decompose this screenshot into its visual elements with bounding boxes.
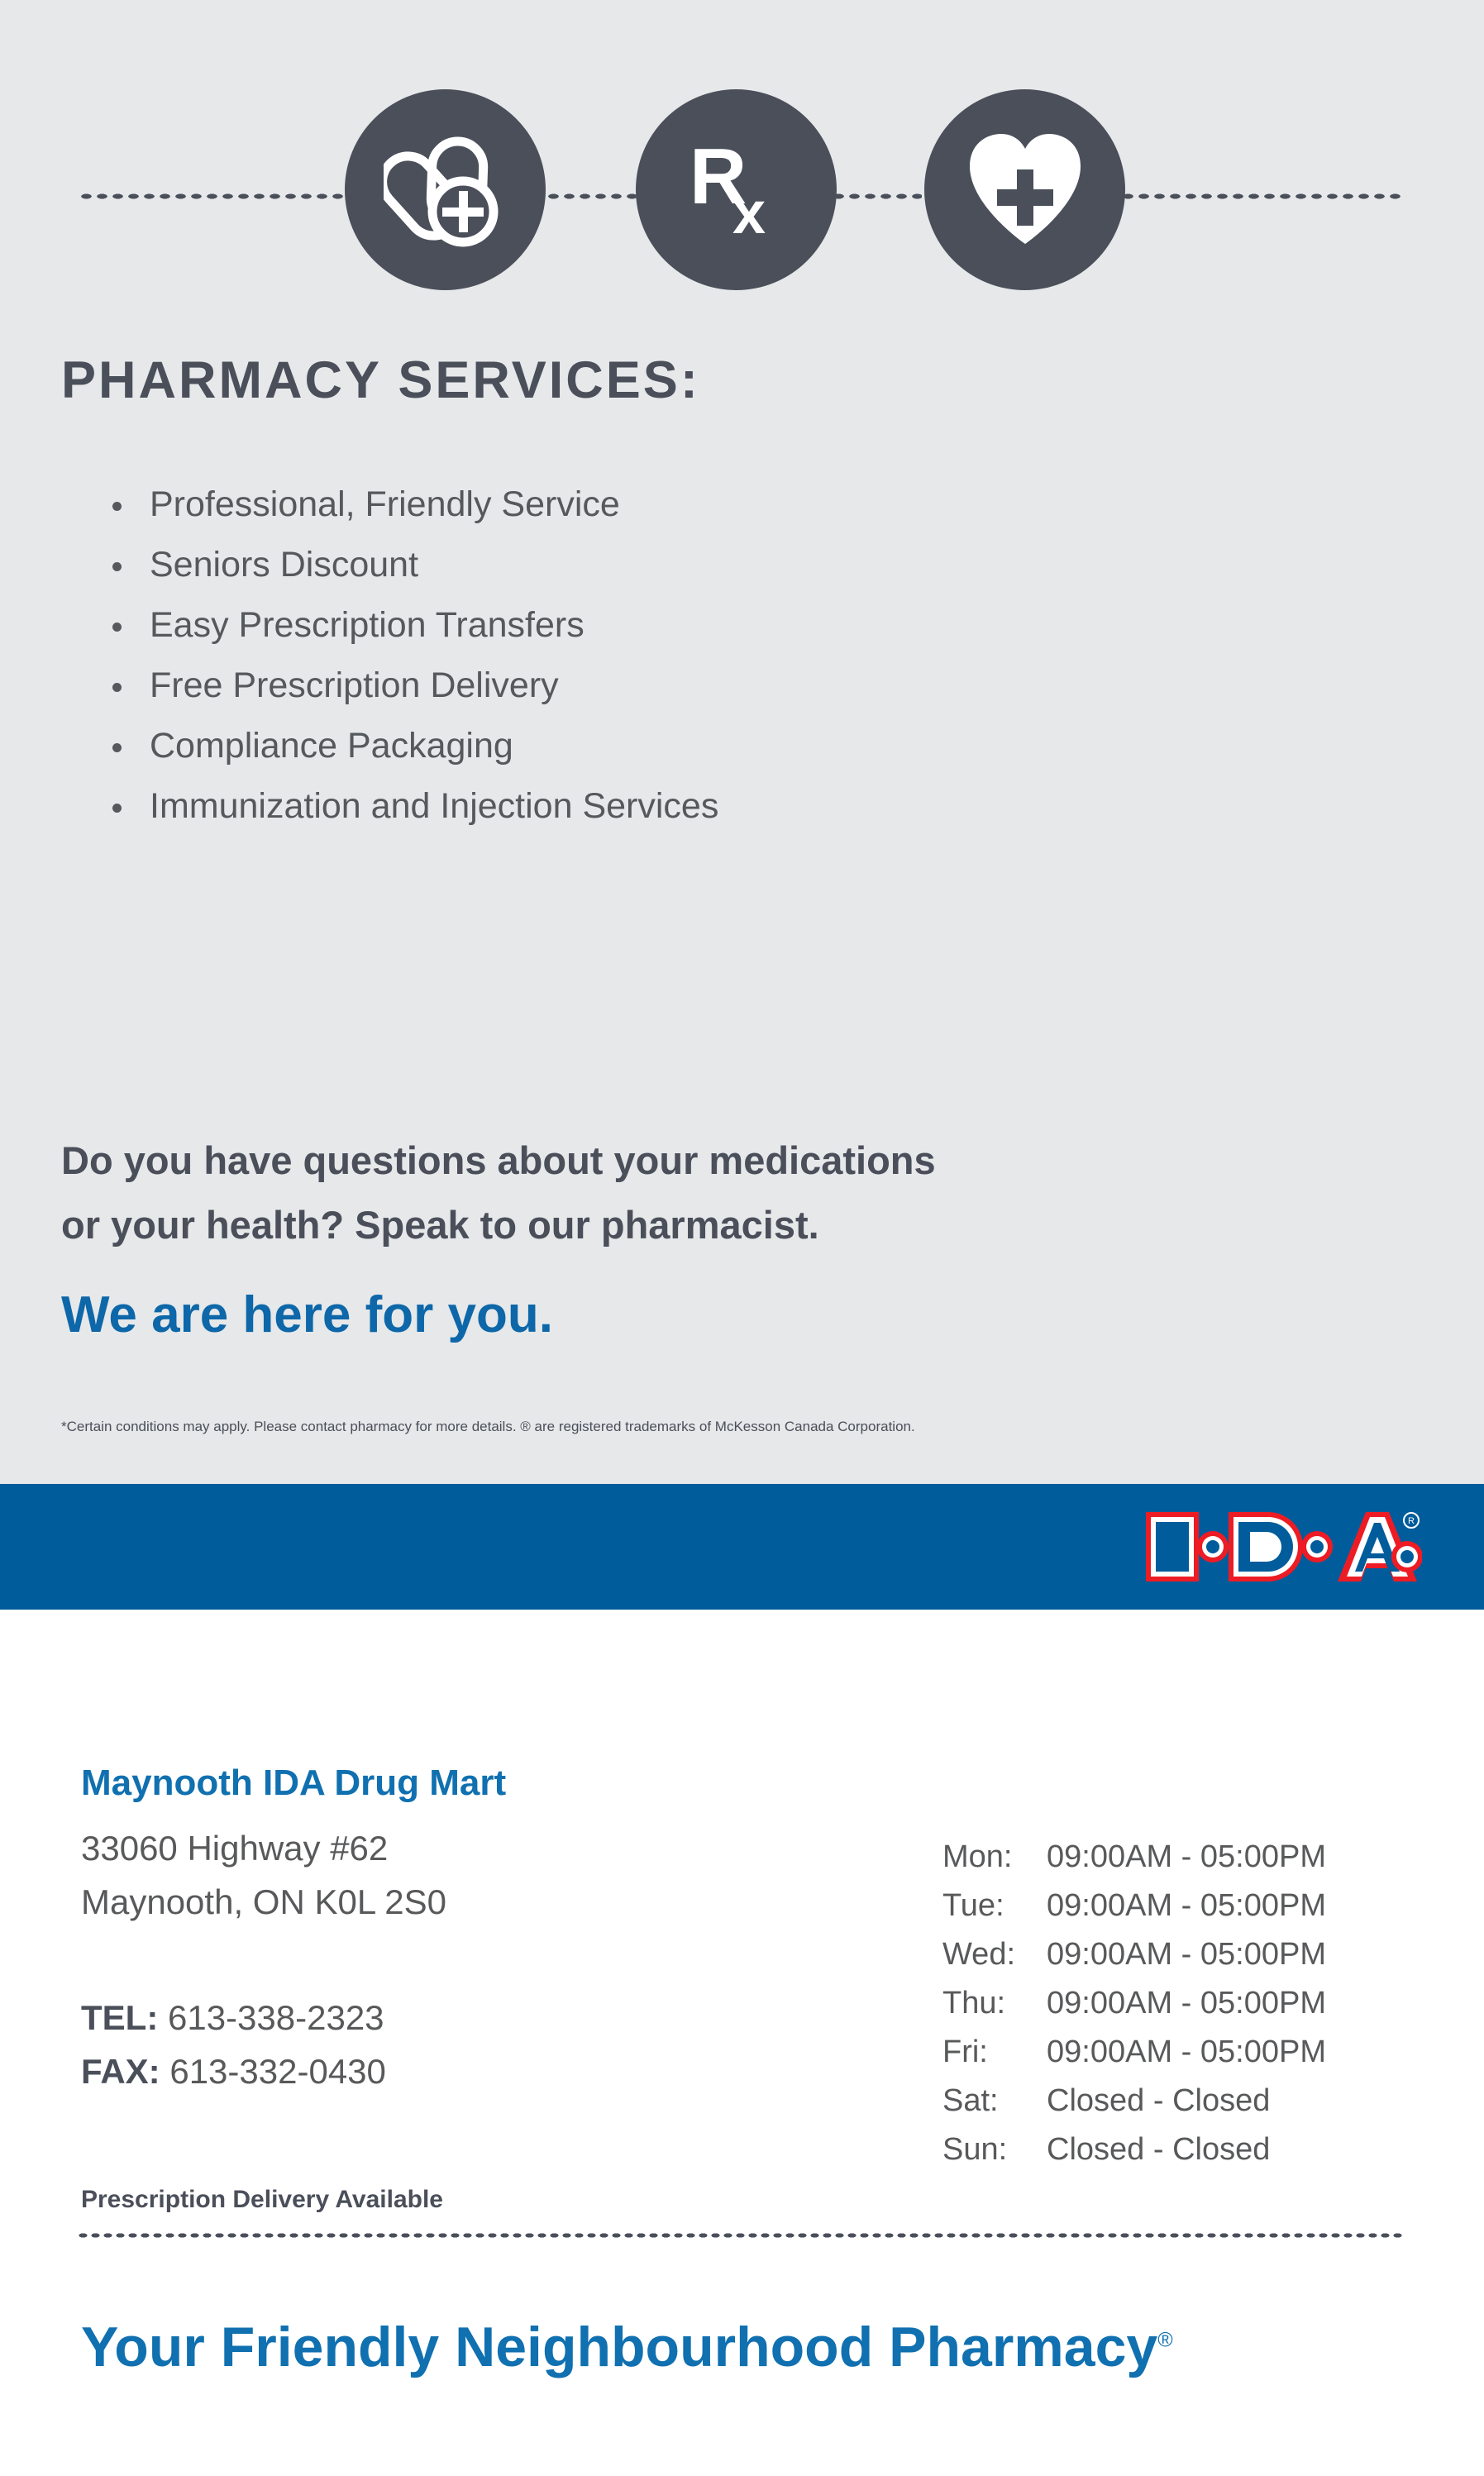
store-contact: TEL: 613-338-2323 FAX: 613-332-0430 [81,1991,386,2098]
pills-plus-icon [345,89,546,290]
dotted-rule-mid-2 [831,193,922,200]
dotted-divider [77,2232,1404,2239]
pharmacist-question: Do you have questions about your medicat… [61,1128,936,1257]
hours-day: Mon: [942,1833,1047,1882]
footer-tagline-text: Your Friendly Neighbourhood Pharmacy [81,2316,1157,2378]
ida-logo: R [1141,1502,1422,1591]
svg-text:x: x [732,180,766,246]
services-list: Professional, Friendly Service Seniors D… [106,475,718,837]
address-line-1: 33060 Highway #62 [81,1821,446,1875]
disclaimer-text: *Certain conditions may apply. Please co… [61,1419,915,1435]
list-item: Immunization and Injection Services [106,776,718,837]
list-item: Easy Prescription Transfers [106,595,718,656]
flyer-page: R x PHARMACY SERVICES: Professional, Fri… [0,0,1484,2476]
hours-day: Tue: [942,1882,1047,1930]
promo-tagline: We are here for you. [61,1286,553,1344]
fax-label: FAX: [81,2052,160,2091]
table-row: Tue: 09:00AM - 05:00PM [942,1882,1326,1930]
hours-day: Wed: [942,1930,1047,1979]
services-panel: R x PHARMACY SERVICES: Professional, Fri… [0,0,1484,1484]
question-line-1: Do you have questions about your medicat… [61,1128,936,1193]
list-item: Free Prescription Delivery [106,656,718,716]
heart-plus-icon [924,89,1125,290]
hours-time: Closed - Closed [1047,2125,1326,2174]
fax-value: 613-332-0430 [169,2052,386,2091]
dotted-rule-right [1120,193,1401,200]
dotted-rule-left [79,193,351,200]
hours-time: 09:00AM - 05:00PM [1047,1882,1326,1930]
telephone-row: TEL: 613-338-2323 [81,1991,386,2044]
hours-time: 09:00AM - 05:00PM [1047,1930,1326,1979]
hours-time: 09:00AM - 05:00PM [1047,2028,1326,2077]
rx-icon: R x [636,89,837,290]
table-row: Sat: Closed - Closed [942,2077,1326,2125]
hours-time: Closed - Closed [1047,2077,1326,2125]
table-row: Sun: Closed - Closed [942,2125,1326,2174]
address-line-2: Maynooth, ON K0L 2S0 [81,1875,446,1929]
table-row: Thu: 09:00AM - 05:00PM [942,1979,1326,2028]
store-hours-table: Mon: 09:00AM - 05:00PM Tue: 09:00AM - 05… [942,1833,1326,2174]
fax-row: FAX: 613-332-0430 [81,2044,386,2098]
delivery-note: Prescription Delivery Available [81,2186,443,2214]
hours-day: Fri: [942,2028,1047,2077]
hours-time: 09:00AM - 05:00PM [1047,1979,1326,2028]
hours-day: Thu: [942,1979,1047,2028]
table-row: Mon: 09:00AM - 05:00PM [942,1833,1326,1882]
page-title: PHARMACY SERVICES: [61,351,700,410]
list-item: Compliance Packaging [106,716,718,776]
telephone-value: 613-338-2323 [168,1998,384,2037]
hours-time: 09:00AM - 05:00PM [1047,1833,1326,1882]
store-name: Maynooth IDA Drug Mart [81,1763,506,1804]
registered-mark: ® [1157,2328,1172,2351]
hours-day: Sat: [942,2077,1047,2125]
table-row: Fri: 09:00AM - 05:00PM [942,2028,1326,2077]
icon-strip: R x [0,89,1484,296]
list-item: Seniors Discount [106,535,718,595]
list-item: Professional, Friendly Service [106,475,718,535]
svg-text:R: R [1408,1516,1415,1526]
telephone-label: TEL: [81,1998,158,2037]
table-row: Wed: 09:00AM - 05:00PM [942,1930,1326,1979]
footer-tagline: Your Friendly Neighbourhood Pharmacy® [81,2315,1173,2379]
brand-band: R [0,1484,1484,1610]
dotted-rule-mid-1 [546,193,641,200]
question-line-2: or your health? Speak to our pharmacist. [61,1193,936,1257]
hours-day: Sun: [942,2125,1047,2174]
store-address: 33060 Highway #62 Maynooth, ON K0L 2S0 [81,1821,446,1929]
